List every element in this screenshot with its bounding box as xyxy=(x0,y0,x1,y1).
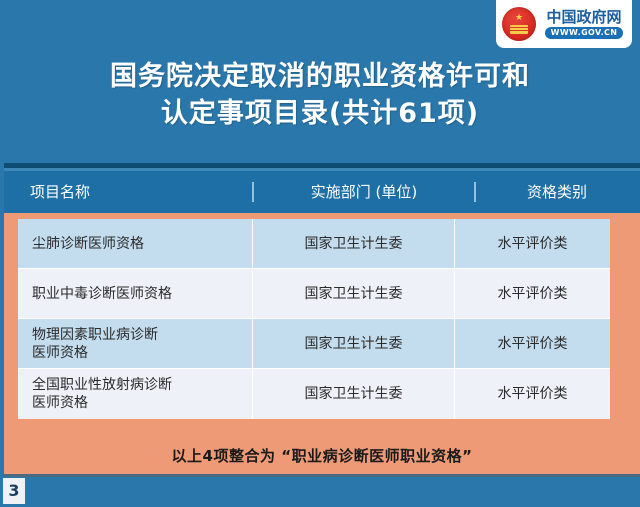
cell-category: 水平评价类 xyxy=(454,219,610,268)
column-header-department: 实施部门 (单位) xyxy=(252,182,474,202)
page-title-line-2: 认定事项目录(共计61项) xyxy=(0,95,640,132)
bottom-band xyxy=(0,474,640,507)
cell-category: 水平评价类 xyxy=(454,269,610,318)
cell-item-name-line1: 尘肺诊断医师资格 xyxy=(32,236,144,252)
emblem-star-icon: ★ xyxy=(515,14,523,23)
slide-canvas: ★ 中国政府网 WWW.GOV.CN 国务院决定取消的职业资格许可和 认定事项目… xyxy=(0,0,640,507)
logo-text-group: 中国政府网 WWW.GOV.CN xyxy=(542,9,626,39)
logo-site-url: WWW.GOV.CN xyxy=(545,27,624,39)
cell-item-name: 职业中毒诊断医师资格 xyxy=(18,285,252,303)
cell-item-name-line2: 医师资格 xyxy=(32,394,252,412)
cell-category: 水平评价类 xyxy=(454,369,610,419)
national-emblem-icon: ★ xyxy=(502,7,536,41)
emblem-gate-icon xyxy=(510,25,528,34)
cell-category: 水平评价类 xyxy=(454,319,610,368)
table-body: 尘肺诊断医师资格 国家卫生计生委 水平评价类 职业中毒诊断医师资格 国家卫生计生… xyxy=(18,219,610,419)
cell-department: 国家卫生计生委 xyxy=(252,319,454,368)
cell-item-name-line1: 职业中毒诊断医师资格 xyxy=(32,286,172,302)
table-row[interactable]: 尘肺诊断医师资格 国家卫生计生委 水平评价类 xyxy=(18,219,610,269)
cell-department: 国家卫生计生委 xyxy=(252,269,454,318)
cell-item-name: 物理因素职业病诊断 医师资格 xyxy=(18,326,252,362)
gov-portal-logo[interactable]: ★ 中国政府网 WWW.GOV.CN xyxy=(496,0,632,48)
cell-item-name-line1: 全国职业性放射病诊断 xyxy=(32,376,252,394)
cell-item-name: 全国职业性放射病诊断 医师资格 xyxy=(18,376,252,412)
column-header-category: 资格类别 xyxy=(474,182,638,202)
logo-site-name: 中国政府网 xyxy=(546,9,621,25)
column-header-name: 项目名称 xyxy=(4,182,252,202)
table-row[interactable]: 物理因素职业病诊断 医师资格 国家卫生计生委 水平评价类 xyxy=(18,319,610,369)
cell-item-name-line2: 医师资格 xyxy=(32,344,252,362)
cell-department: 国家卫生计生委 xyxy=(252,219,454,268)
table-header-row: 项目名称 实施部门 (单位) 资格类别 xyxy=(4,171,640,213)
page-title-line-1: 国务院决定取消的职业资格许可和 xyxy=(0,58,640,95)
table-row[interactable]: 职业中毒诊断医师资格 国家卫生计生委 水平评价类 xyxy=(18,269,610,319)
bottom-band-divider xyxy=(4,474,640,477)
page-title: 国务院决定取消的职业资格许可和 认定事项目录(共计61项) xyxy=(0,58,640,132)
table-row[interactable]: 全国职业性放射病诊断 医师资格 国家卫生计生委 水平评价类 xyxy=(18,369,610,419)
cell-department: 国家卫生计生委 xyxy=(252,369,454,419)
merge-note: 以上4项整合为 “职业病诊断医师职业资格” xyxy=(4,436,640,474)
table-highlight-frame: 尘肺诊断医师资格 国家卫生计生委 水平评价类 职业中毒诊断医师资格 国家卫生计生… xyxy=(4,213,640,474)
page-number-badge: 3 xyxy=(3,478,25,504)
cell-item-name-line1: 物理因素职业病诊断 xyxy=(32,326,252,344)
cell-item-name: 尘肺诊断医师资格 xyxy=(18,235,252,253)
